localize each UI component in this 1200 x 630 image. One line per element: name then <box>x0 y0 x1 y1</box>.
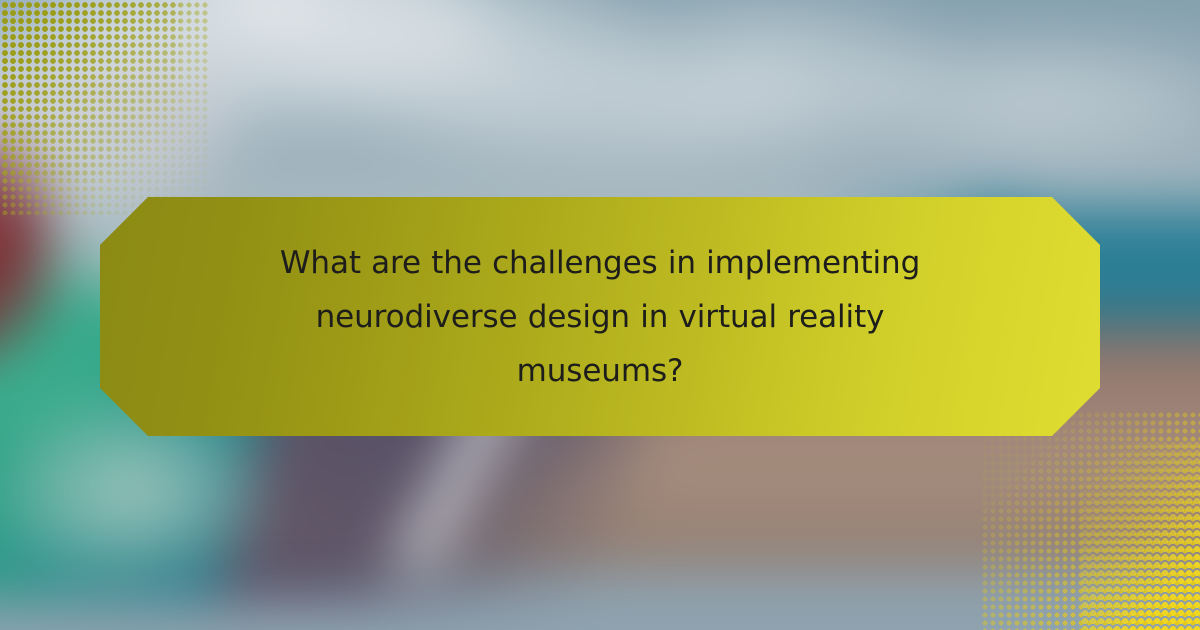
cloud-shape <box>350 50 891 175</box>
question-card: What are the challenges in implementing … <box>100 197 1100 436</box>
question-text: What are the challenges in implementing … <box>160 236 1040 398</box>
screenshot-canvas: What are the challenges in implementing … <box>0 0 1200 630</box>
halftone-dots-bottom-right-dense <box>1080 440 1200 630</box>
halftone-dots-top-left-dense <box>0 0 180 180</box>
